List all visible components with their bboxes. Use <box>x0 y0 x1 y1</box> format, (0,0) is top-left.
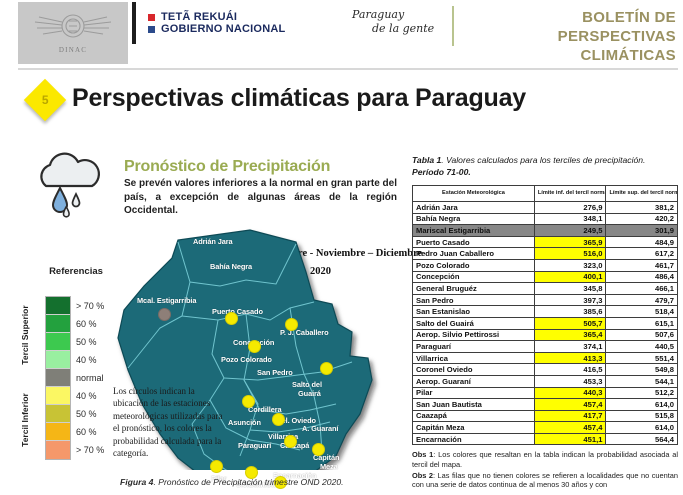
page-title: Perspectivas climáticas para Paraguay <box>72 84 526 113</box>
cell-lower-limit-7: 345,8 <box>534 283 606 295</box>
pyg-line-1: Paraguay <box>352 8 438 22</box>
cell-upper-limit-7: 466,1 <box>606 283 678 295</box>
table-row: Pozo Colorado323,0461,7 <box>413 259 678 271</box>
table-row: Pedro Juan Caballero516,0617,2 <box>413 248 678 260</box>
pyg-line-2: de la gente <box>352 22 438 36</box>
table-row: Aerop. Guaraní453,3544,1 <box>413 375 678 387</box>
table-row: San Pedro397,3479,7 <box>413 294 678 306</box>
table-row: Puerto Casado365,9484,9 <box>413 236 678 248</box>
rain-cloud-icon <box>26 152 104 224</box>
cell-lower-limit-13: 413,3 <box>534 352 606 364</box>
forecast-body: Se prevén valores inferiores a la normal… <box>124 177 397 218</box>
cell-lower-limit-12: 374,1 <box>534 341 606 353</box>
cell-upper-limit-16: 512,2 <box>606 387 678 399</box>
legend-swatch-2: 50 % <box>46 333 70 351</box>
map-label-2: Mcal. Estigarribia <box>137 296 196 305</box>
cell-station-0: Adrián Jara <box>413 202 535 214</box>
forecast-heading: Pronóstico de Precipitación <box>124 158 330 176</box>
cell-upper-limit-6: 486,4 <box>606 271 678 283</box>
observation-text-1: : Los colores que resaltan en la tabla i… <box>412 450 678 469</box>
boletin-title: BOLETÍN DE PERSPECTIVAS CLIMÁTICAS <box>462 8 676 65</box>
cell-upper-limit-10: 615,1 <box>606 317 678 329</box>
legend-group-lower: Tercil Inferior <box>20 380 30 460</box>
observations-block: Obs 1: Los colores que resaltan en la ta… <box>412 450 678 491</box>
legend-swatch-1: 60 % <box>46 315 70 333</box>
table-caption-text: . Valores calculados para los terciles d… <box>441 155 645 165</box>
cell-lower-limit-18: 417,7 <box>534 410 606 422</box>
station-marker-6[interactable] <box>272 413 285 426</box>
station-marker-5[interactable] <box>242 395 255 408</box>
cell-upper-limit-19: 614,0 <box>606 422 678 434</box>
legend-swatch-7: 60 % <box>46 423 70 441</box>
map-circle-note: Los círculos indican la ubicación de las… <box>113 385 228 459</box>
cell-station-18: Caazapá <box>413 410 535 422</box>
col-header-lower-limit: Límite inf. del tercil normal <box>534 186 606 202</box>
observation-1: Obs 1: Los colores que resaltan en la ta… <box>412 450 678 470</box>
table-row: San Estanislao385,6518,4 <box>413 306 678 318</box>
header-vertical-rule <box>452 6 454 46</box>
cell-station-7: General Bruguéz <box>413 283 535 295</box>
table-row: Aerop. Silvio Pettirossi365,4507,6 <box>413 329 678 341</box>
legend-swatch-6: 50 % <box>46 405 70 423</box>
cell-station-2: Mariscal Estigarribia <box>413 225 535 237</box>
dinac-wings-icon <box>25 12 121 42</box>
cell-upper-limit-17: 614,0 <box>606 399 678 411</box>
observation-tag-2: Obs 2 <box>412 471 433 480</box>
cell-upper-limit-20: 564,4 <box>606 433 678 445</box>
legend-swatch-0: > 70 % <box>46 297 70 315</box>
cell-lower-limit-20: 451,1 <box>534 433 606 445</box>
dinac-label: DINAC <box>59 46 87 54</box>
cell-station-11: Aerop. Silvio Pettirossi <box>413 329 535 341</box>
cell-upper-limit-4: 617,2 <box>606 248 678 260</box>
paraguay-de-la-gente-logo: Paraguay de la gente <box>352 8 438 36</box>
cell-lower-limit-9: 385,6 <box>534 306 606 318</box>
table-caption: Tabla 1. Valores calculados para los ter… <box>412 154 682 178</box>
cell-lower-limit-19: 457,4 <box>534 422 606 434</box>
table-row: San Juan Bautista457,4614,0 <box>413 399 678 411</box>
cell-station-19: Capitán Meza <box>413 422 535 434</box>
cell-upper-limit-14: 549,8 <box>606 364 678 376</box>
cell-lower-limit-10: 505,7 <box>534 317 606 329</box>
cell-upper-limit-11: 507,6 <box>606 329 678 341</box>
cell-station-4: Pedro Juan Caballero <box>413 248 535 260</box>
table-row: Bahía Negra348,1420,2 <box>413 213 678 225</box>
government-block: TETÃ REKUÁI GOBIERNO NACIONAL <box>148 11 285 35</box>
cell-lower-limit-1: 348,1 <box>534 213 606 225</box>
cell-station-15: Aerop. Guaraní <box>413 375 535 387</box>
cell-station-12: Paraguarí <box>413 341 535 353</box>
cell-station-6: Concepción <box>413 271 535 283</box>
table-row: General Bruguéz345,8466,1 <box>413 283 678 295</box>
table-row: Concepción400,1486,4 <box>413 271 678 283</box>
table-row: Adrián Jara276,9381,2 <box>413 202 678 214</box>
cell-station-1: Bahía Negra <box>413 213 535 225</box>
cell-upper-limit-9: 518,4 <box>606 306 678 318</box>
cell-station-9: San Estanislao <box>413 306 535 318</box>
map-label-12: Asunción <box>228 418 261 427</box>
station-marker-4[interactable] <box>158 308 171 321</box>
map-label-1: Bahía Negra <box>210 262 252 271</box>
station-marker-3[interactable] <box>320 362 333 375</box>
cell-lower-limit-5: 323,0 <box>534 259 606 271</box>
boletin-line-2: CLIMÁTICAS <box>462 46 676 65</box>
figure-caption-label: Figura 4 <box>120 477 153 487</box>
table-header-row: Estación Meteorológica Límite inf. del t… <box>413 186 678 202</box>
page-header: DINAC TETÃ REKUÁI GOBIERNO NACIONAL Para… <box>0 0 683 68</box>
cell-upper-limit-15: 544,1 <box>606 375 678 387</box>
table-row: Villarrica413,3551,4 <box>413 352 678 364</box>
observation-2: Obs 2: Las filas que no tienen colores s… <box>412 471 678 491</box>
cell-station-17: San Juan Bautista <box>413 399 535 411</box>
dinac-logo-box: DINAC <box>18 2 128 64</box>
cell-station-14: Coronel Oviedo <box>413 364 535 376</box>
figure-caption: Figura 4. Pronóstico de Precipitación tr… <box>120 477 344 487</box>
figure-caption-text: . Pronóstico de Precipitación trimestre … <box>153 477 343 487</box>
cell-lower-limit-0: 276,9 <box>534 202 606 214</box>
station-marker-0[interactable] <box>225 312 238 325</box>
cell-station-5: Pozo Colorado <box>413 259 535 271</box>
map-label-15: Paraguarí <box>238 441 271 450</box>
station-marker-9[interactable] <box>210 460 223 473</box>
table-row: Paraguarí374,1440,5 <box>413 341 678 353</box>
table-row: Capitán Meza457,4614,0 <box>413 422 678 434</box>
header-bottom-rule <box>18 68 678 70</box>
legend-scale: > 70 %60 %50 %40 %normal40 %50 %60 %> 70… <box>45 296 71 460</box>
table-row: Coronel Oviedo416,5549,8 <box>413 364 678 376</box>
table-row: Pilar440,3512,2 <box>413 387 678 399</box>
map-label-13: A. Guaraní <box>302 424 338 433</box>
cell-upper-limit-8: 479,7 <box>606 294 678 306</box>
col-header-station: Estación Meteorológica <box>413 186 535 202</box>
legend-swatch-8: > 70 % <box>46 441 70 459</box>
cell-lower-limit-3: 365,9 <box>534 236 606 248</box>
map-label-18: Meza <box>320 462 338 471</box>
red-square-icon <box>148 14 155 21</box>
legend-swatch-4: normal <box>46 369 70 387</box>
cell-lower-limit-4: 516,0 <box>534 248 606 260</box>
legend-color-bar: > 70 %60 %50 %40 %normal40 %50 %60 %> 70… <box>45 296 71 460</box>
header-divider <box>132 2 136 44</box>
boletin-line-1: BOLETÍN DE PERSPECTIVAS <box>462 8 676 46</box>
map-label-9: Guairá <box>298 389 321 398</box>
station-marker-8[interactable] <box>312 443 325 456</box>
table-caption-label: Tabla 1 <box>412 155 441 165</box>
table-row: Salto del Guairá505,7615,1 <box>413 317 678 329</box>
cell-lower-limit-8: 397,3 <box>534 294 606 306</box>
cell-upper-limit-2: 301,9 <box>606 225 678 237</box>
observation-text-2: : Las filas que no tienen colores se ref… <box>412 471 678 490</box>
cell-upper-limit-0: 381,2 <box>606 202 678 214</box>
map-label-7: San Pedro <box>257 368 293 377</box>
table-row: Mariscal Estigarribia249,5301,9 <box>413 225 678 237</box>
cell-upper-limit-1: 420,2 <box>606 213 678 225</box>
cell-lower-limit-17: 457,4 <box>534 399 606 411</box>
map-label-8: Salto del <box>292 380 322 389</box>
gov-line-1: TETÃ REKUÁI <box>161 11 237 23</box>
cell-upper-limit-18: 515,8 <box>606 410 678 422</box>
cell-lower-limit-16: 440,3 <box>534 387 606 399</box>
cell-upper-limit-3: 484,9 <box>606 236 678 248</box>
cell-lower-limit-15: 453,3 <box>534 375 606 387</box>
map-label-6: Pozo Colorado <box>221 355 272 364</box>
legend-group-upper: Tercil Superior <box>20 295 30 375</box>
cell-station-13: Villarrica <box>413 352 535 364</box>
section-number-badge: 5 <box>24 79 66 121</box>
station-marker-1[interactable] <box>285 318 298 331</box>
map-label-3: Puerto Casado <box>212 307 263 316</box>
table-row: Encarnación451,1564,4 <box>413 433 678 445</box>
table-row: Caazapá417,7515,8 <box>413 410 678 422</box>
col-header-upper-limit: Límite sup. del tercil normal <box>606 186 678 202</box>
cell-lower-limit-11: 365,4 <box>534 329 606 341</box>
map-label-0: Adrián Jara <box>193 237 233 246</box>
station-marker-2[interactable] <box>248 340 261 353</box>
cell-upper-limit-12: 440,5 <box>606 341 678 353</box>
gov-line-2: GOBIERNO NACIONAL <box>161 23 285 35</box>
blue-square-icon <box>148 26 155 33</box>
cell-station-16: Pilar <box>413 387 535 399</box>
cell-upper-limit-5: 461,7 <box>606 259 678 271</box>
cell-upper-limit-13: 551,4 <box>606 352 678 364</box>
cell-station-20: Encarnación <box>413 433 535 445</box>
table-caption-period: Período 71-00. <box>412 167 471 177</box>
legend-swatch-3: 40 % <box>46 351 70 369</box>
station-marker-7[interactable] <box>284 435 297 448</box>
observation-tag-1: Obs 1 <box>412 450 433 459</box>
cell-station-8: San Pedro <box>413 294 535 306</box>
cell-station-3: Puerto Casado <box>413 236 535 248</box>
cell-lower-limit-2: 249,5 <box>534 225 606 237</box>
section-number: 5 <box>42 93 49 107</box>
legend-swatch-5: 40 % <box>46 387 70 405</box>
cell-lower-limit-6: 400,1 <box>534 271 606 283</box>
cell-station-10: Salto del Guairá <box>413 317 535 329</box>
cell-lower-limit-14: 416,5 <box>534 364 606 376</box>
tercile-values-table: Estación Meteorológica Límite inf. del t… <box>412 185 678 445</box>
